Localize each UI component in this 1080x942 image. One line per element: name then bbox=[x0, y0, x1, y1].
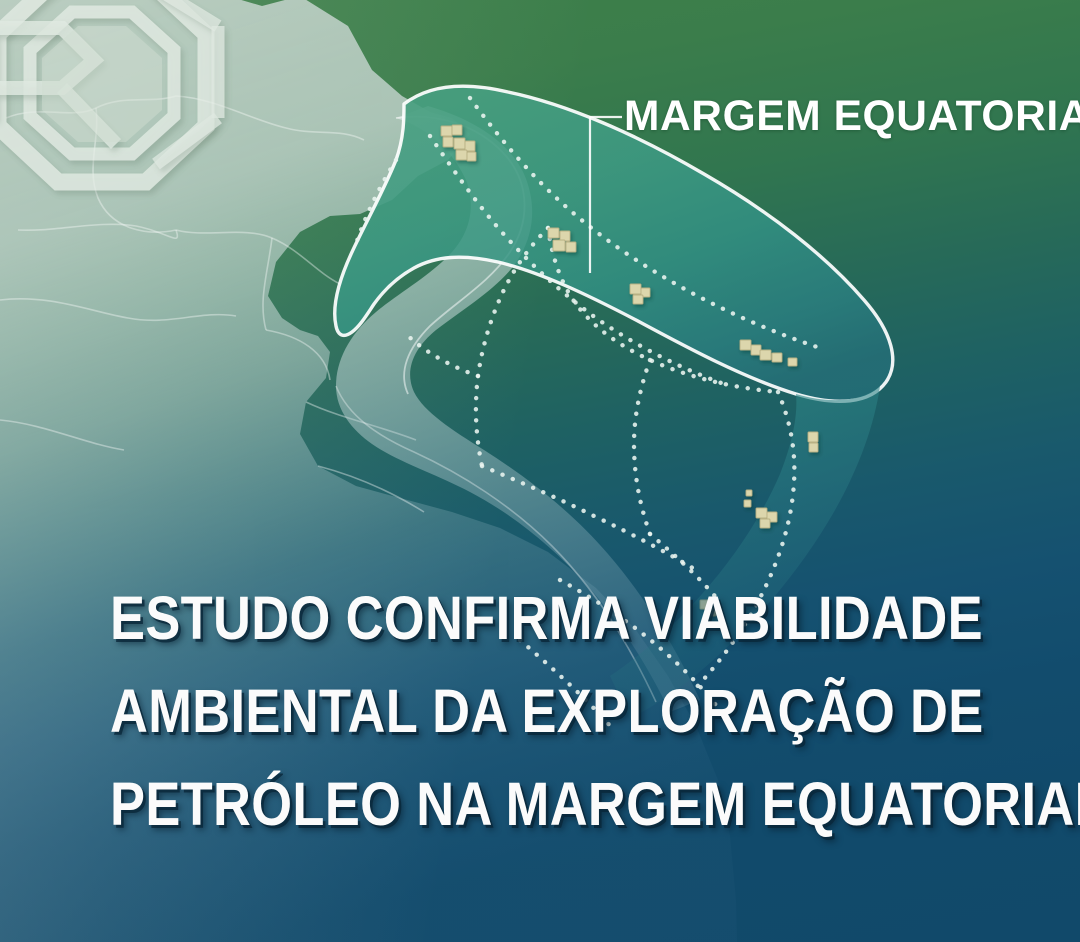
margem-equatorial-callout: MARGEM EQUATORIAL bbox=[578, 95, 1078, 175]
headline-line-2: AMBIENTAL DA EXPLORAÇÃO DE bbox=[110, 665, 970, 758]
poster-canvas: MARGEM EQUATORIAL ESTUDO CONFIRMA VIABIL… bbox=[0, 0, 1080, 942]
margem-equatorial-label: MARGEM EQUATORIAL bbox=[624, 93, 1080, 141]
headline-line-1: ESTUDO CONFIRMA VIABILIDADE bbox=[110, 572, 970, 665]
headline-line-3: PETRÓLEO NA MARGEM EQUATORIAL bbox=[110, 758, 970, 851]
headline-block: ESTUDO CONFIRMA VIABILIDADE AMBIENTAL DA… bbox=[0, 572, 1080, 851]
